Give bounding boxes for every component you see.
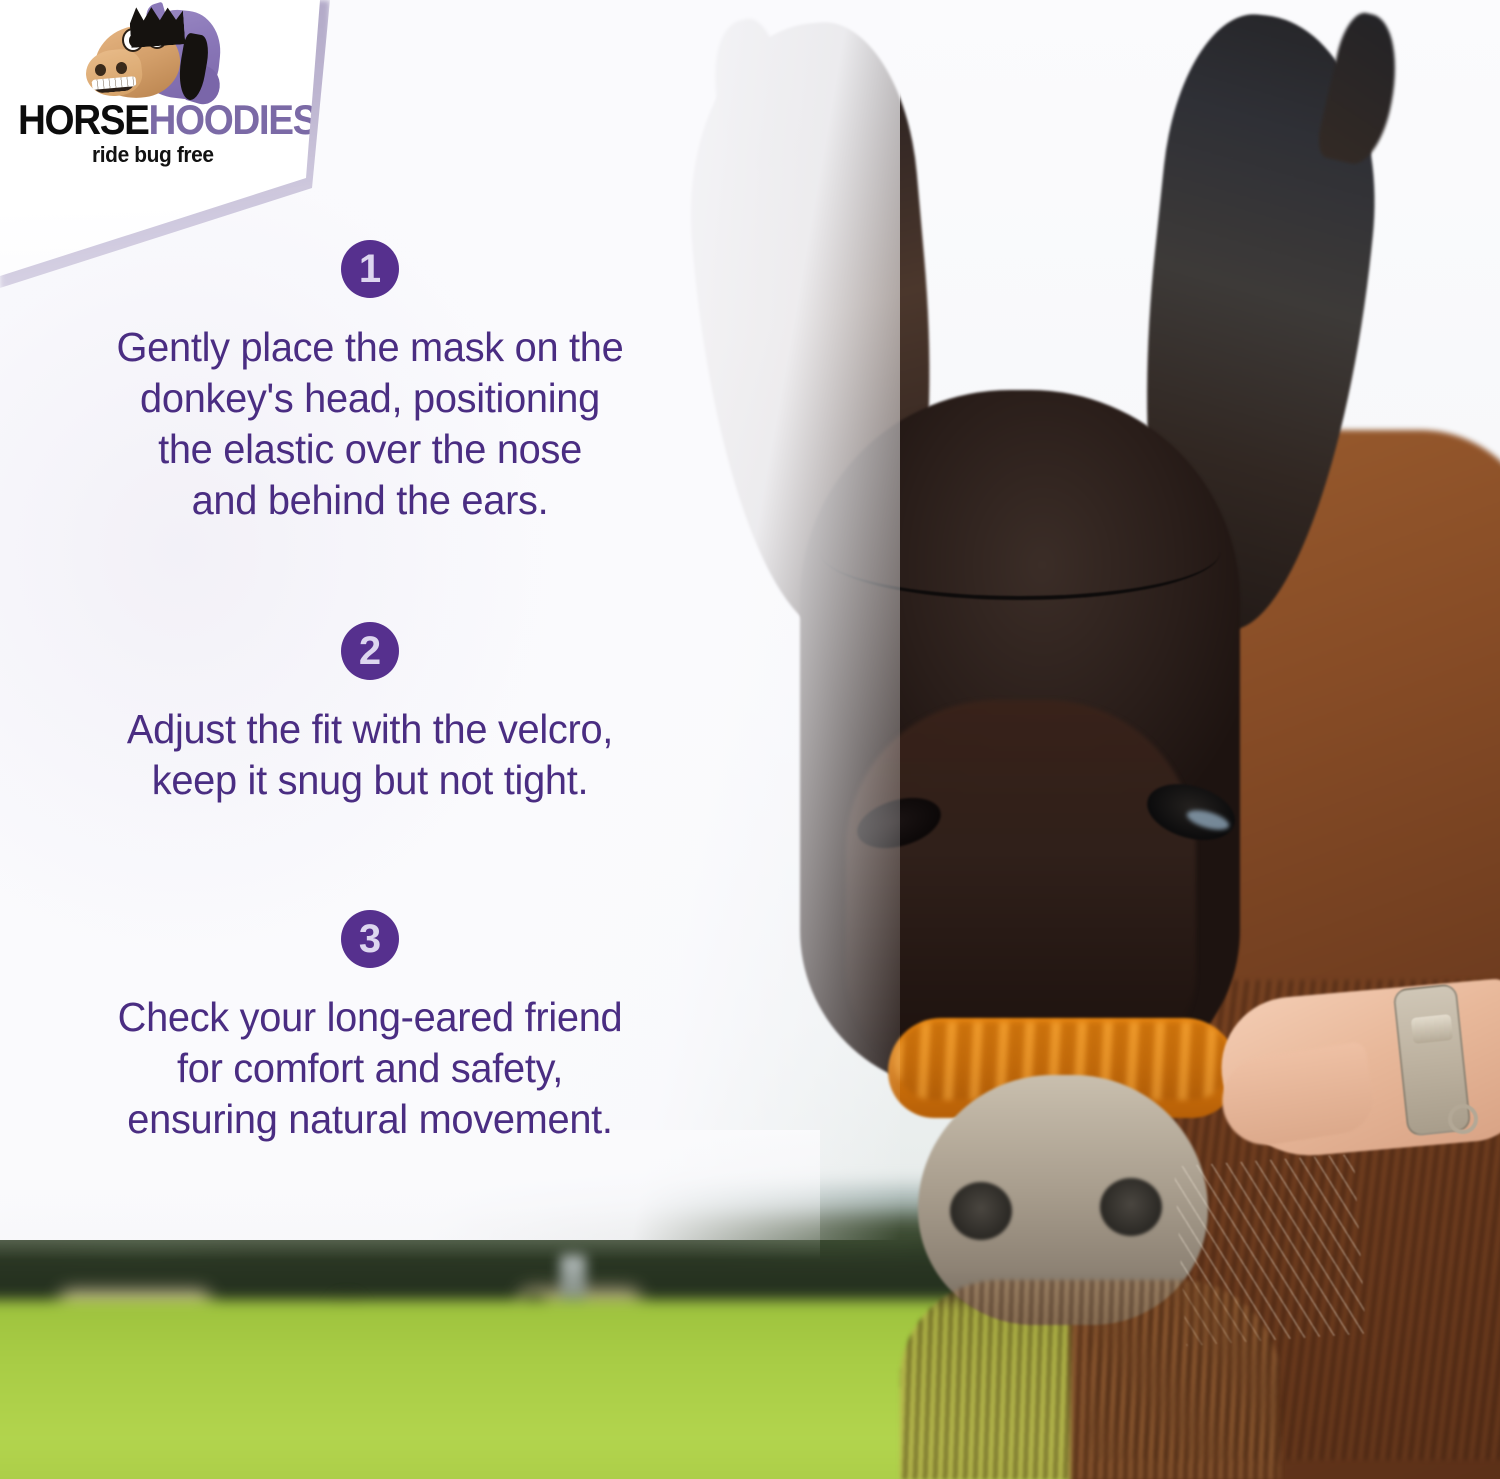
donkey-left-nostril: [950, 1182, 1012, 1240]
watch-buckle: [1411, 1014, 1453, 1044]
step-badge-3: 3: [341, 910, 399, 968]
donkey-right-nostril: [1100, 1178, 1162, 1236]
step-item-1: 1 Gently place the mask on the donkey's …: [0, 240, 740, 526]
donkey-right-ear-tip: [1314, 9, 1410, 170]
step-text-1: Gently place the mask on the donkey's he…: [11, 322, 729, 526]
step-text-3: Check your long-eared friend for comfort…: [11, 992, 729, 1145]
instruction-steps: 1 Gently place the mask on the donkey's …: [0, 0, 740, 1240]
step-badge-1: 1: [341, 240, 399, 298]
donkey-chin-fur: [900, 1280, 1280, 1479]
promo-infographic: HORSEHOODIES ride bug free 1 Gently plac…: [0, 0, 1500, 1479]
step-item-3: 3 Check your long-eared friend for comfo…: [0, 910, 740, 1145]
step-badge-2: 2: [341, 622, 399, 680]
step-text-2: Adjust the fit with the velcro, keep it …: [11, 704, 729, 806]
step-item-2: 2 Adjust the fit with the velcro, keep i…: [0, 622, 740, 806]
